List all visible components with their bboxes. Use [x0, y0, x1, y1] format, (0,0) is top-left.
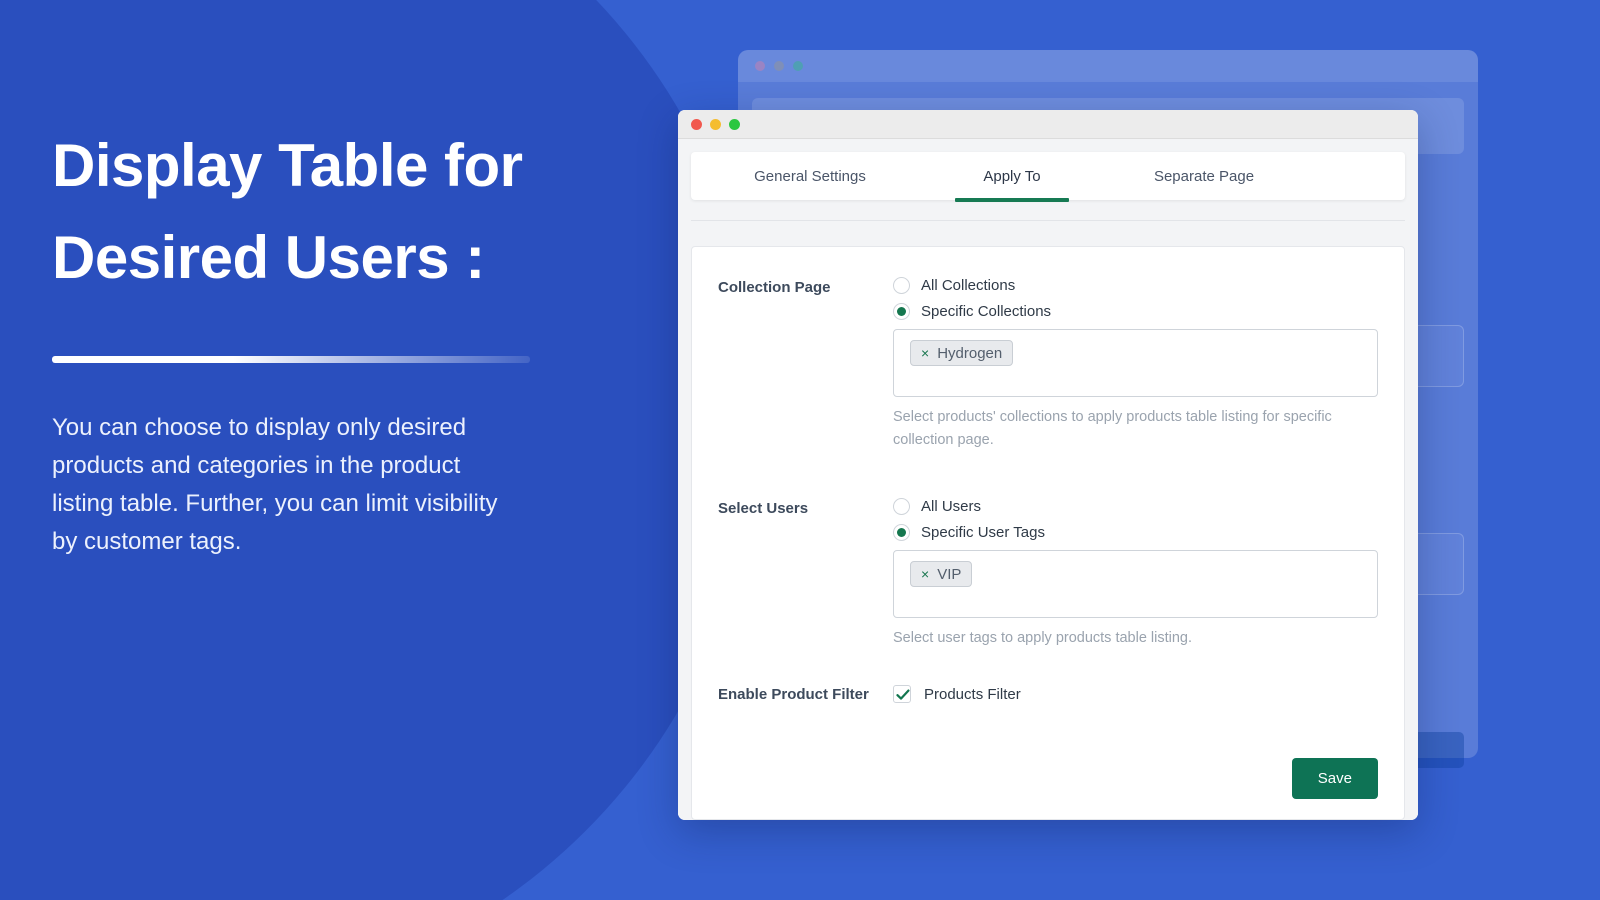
chip-vip-label: VIP: [937, 566, 961, 583]
window-titlebar: [678, 110, 1418, 139]
tab-separate-page-label: Separate Page: [1154, 168, 1254, 185]
promo-body-text: You can choose to display only desired p…: [52, 409, 522, 561]
radio-all-users-label: All Users: [921, 498, 981, 515]
promo-copy: Display Table for Desired Users : You ca…: [52, 120, 582, 561]
radio-all-collections-label: All Collections: [921, 277, 1015, 294]
user-tags-multiselect[interactable]: × VIP: [893, 550, 1378, 618]
field-collection-page: Collection Page All Collections Specific…: [718, 277, 1378, 452]
tab-separate-page[interactable]: Separate Page: [1119, 152, 1289, 200]
checkmark-icon[interactable]: [893, 685, 911, 703]
settings-card: Collection Page All Collections Specific…: [691, 246, 1405, 820]
tab-bar: General Settings Apply To Separate Page: [691, 152, 1405, 200]
minimize-icon: [774, 61, 784, 71]
tab-divider: [691, 220, 1405, 221]
radio-all-collections[interactable]: All Collections: [893, 277, 1378, 294]
app-window: General Settings Apply To Separate Page …: [678, 110, 1418, 820]
tab-general-settings[interactable]: General Settings: [715, 152, 905, 200]
radio-specific-user-tags[interactable]: Specific User Tags: [893, 524, 1378, 541]
tab-apply-to-label: Apply To: [983, 168, 1040, 185]
window-body: General Settings Apply To Separate Page …: [678, 139, 1418, 820]
promo-title: Display Table for Desired Users :: [52, 120, 582, 304]
chip-hydrogen-label: Hydrogen: [937, 345, 1002, 362]
radio-specific-collections-indicator[interactable]: [893, 303, 910, 320]
maximize-icon[interactable]: [729, 119, 740, 130]
minimize-icon[interactable]: [710, 119, 721, 130]
close-icon: [755, 61, 765, 71]
radio-all-collections-indicator[interactable]: [893, 277, 910, 294]
tab-general-settings-label: General Settings: [754, 168, 866, 185]
collection-page-help: Select products' collections to apply pr…: [893, 406, 1333, 452]
field-enable-product-filter: Enable Product Filter Products Filter: [718, 684, 1378, 703]
checkbox-products-filter-label: Products Filter: [924, 686, 1021, 703]
radio-specific-collections-label: Specific Collections: [921, 303, 1051, 320]
collection-page-label: Collection Page: [718, 277, 893, 296]
chip-remove-icon[interactable]: ×: [921, 567, 929, 581]
chip-vip[interactable]: × VIP: [910, 561, 972, 587]
maximize-icon: [793, 61, 803, 71]
promo-divider: [52, 356, 530, 363]
radio-all-users[interactable]: All Users: [893, 498, 1378, 515]
promo-banner: Display Table for Desired Users : You ca…: [0, 0, 1600, 900]
field-select-users: Select Users All Users Specific User Tag…: [718, 498, 1378, 650]
enable-product-filter-label: Enable Product Filter: [718, 684, 893, 703]
select-users-label: Select Users: [718, 498, 893, 517]
radio-specific-user-tags-indicator[interactable]: [893, 524, 910, 541]
tab-apply-to[interactable]: Apply To: [947, 152, 1077, 200]
save-button[interactable]: Save: [1292, 758, 1378, 799]
chip-hydrogen[interactable]: × Hydrogen: [910, 340, 1013, 366]
radio-specific-user-tags-label: Specific User Tags: [921, 524, 1045, 541]
form-actions: Save: [718, 758, 1378, 799]
close-icon[interactable]: [691, 119, 702, 130]
radio-specific-collections[interactable]: Specific Collections: [893, 303, 1378, 320]
chip-remove-icon[interactable]: ×: [921, 346, 929, 360]
select-users-help: Select user tags to apply products table…: [893, 627, 1333, 650]
collections-multiselect[interactable]: × Hydrogen: [893, 329, 1378, 397]
background-window-titlebar: [738, 50, 1478, 82]
radio-all-users-indicator[interactable]: [893, 498, 910, 515]
checkbox-products-filter[interactable]: Products Filter: [893, 684, 1378, 703]
